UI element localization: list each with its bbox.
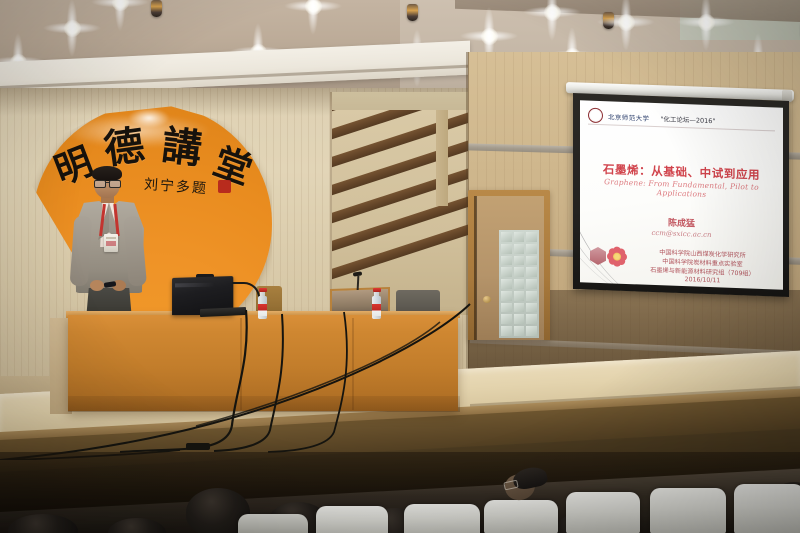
stage-cables bbox=[0, 300, 800, 460]
audience-seat[interactable] bbox=[650, 488, 726, 533]
wall-seam bbox=[330, 92, 332, 322]
plaque-char-3: 講 bbox=[160, 126, 205, 171]
spotlight-fixture-icon bbox=[603, 12, 614, 29]
plaque-char-2: 德 bbox=[101, 125, 146, 170]
plaque-characters: 明 德 講 堂 bbox=[48, 126, 258, 166]
stair-wall bbox=[332, 110, 470, 315]
stair-wall-post bbox=[436, 110, 448, 206]
presenter-hair bbox=[92, 166, 122, 181]
presenter-person bbox=[68, 168, 154, 320]
plaque-seal-icon bbox=[218, 180, 231, 193]
audience-seat[interactable] bbox=[484, 500, 558, 533]
projection-screen: 北京师范大学 "化工论坛—2016" 石墨烯：从基础、中试到应用 Graphen… bbox=[580, 100, 783, 289]
presenter-hand bbox=[90, 280, 104, 291]
laptop-screen-glare bbox=[175, 283, 215, 288]
institute-flower-icon bbox=[606, 245, 627, 267]
slide-university-name: 北京师范大学 bbox=[608, 111, 649, 123]
conference-badge bbox=[104, 234, 118, 252]
university-emblem-icon bbox=[588, 108, 603, 124]
audience-area bbox=[0, 452, 800, 533]
audience-seat[interactable] bbox=[566, 492, 640, 533]
spotlight-fixture-icon bbox=[151, 0, 162, 17]
glasses-icon bbox=[94, 180, 121, 186]
audience-seat[interactable] bbox=[316, 506, 388, 533]
audience-seat[interactable] bbox=[404, 504, 480, 533]
slide-forum-name: "化工论坛—2016" bbox=[660, 113, 715, 125]
audience-seat[interactable] bbox=[238, 514, 308, 533]
lecture-hall-photo: 明 德 講 堂 刘宁多题 北京师范大学 "化工论坛—2016" 石墨烯：从基础、… bbox=[0, 0, 800, 533]
audience-seat[interactable] bbox=[734, 484, 800, 533]
spotlight-fixture-icon bbox=[407, 4, 418, 21]
